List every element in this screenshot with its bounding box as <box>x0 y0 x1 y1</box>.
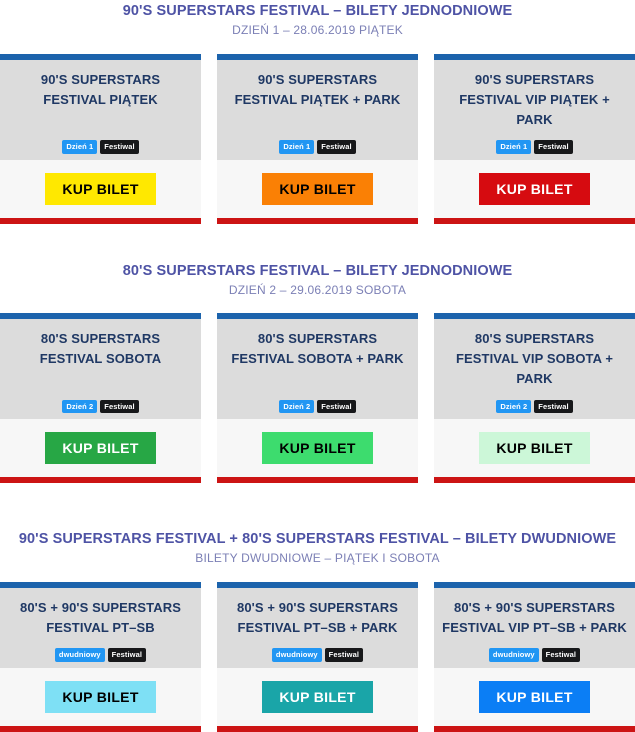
card-badges: dwudniowy Festiwal <box>489 638 580 662</box>
buy-ticket-button[interactable]: KUP BILET <box>479 173 589 205</box>
ticket-section-twoday: 90'S SUPERSTARS FESTIVAL + 80'S SUPERSTA… <box>0 530 635 732</box>
status-badge-type: Festiwal <box>100 400 138 414</box>
ticket-card[interactable]: 80'S + 90'S SUPERSTARS FESTIVAL VIP PT–S… <box>434 582 635 732</box>
card-body: KUP BILET <box>434 668 635 726</box>
card-bottom-accent-bar <box>217 477 418 483</box>
card-header: 80'S SUPERSTARS FESTIVAL SOBOTA + PARK D… <box>217 319 418 419</box>
status-badge-day: dwudniowy <box>489 648 539 662</box>
card-header: 90'S SUPERSTARS FESTIVAL PIĄTEK + PARK D… <box>217 60 418 160</box>
section-subheading: DZIEŃ 2 – 29.06.2019 SOBOTA <box>0 283 635 297</box>
status-badge-type: Festiwal <box>542 648 580 662</box>
card-body: KUP BILET <box>217 160 418 218</box>
ticket-card[interactable]: 80'S + 90'S SUPERSTARS FESTIVAL PT–SB + … <box>217 582 418 732</box>
card-bottom-accent-bar <box>434 218 635 224</box>
card-header: 80'S SUPERSTARS FESTIVAL SOBOTA Dzień 2 … <box>0 319 201 419</box>
card-bottom-accent-bar <box>0 477 201 483</box>
card-grid: 80'S + 90'S SUPERSTARS FESTIVAL PT–SB dw… <box>0 582 635 732</box>
ticket-card[interactable]: 80'S SUPERSTARS FESTIVAL SOBOTA Dzień 2 … <box>0 313 201 483</box>
section-heading: 90'S SUPERSTARS FESTIVAL – BILETY JEDNOD… <box>0 0 635 20</box>
card-title: 90'S SUPERSTARS FESTIVAL PIĄTEK <box>8 70 193 110</box>
card-title: 90'S SUPERSTARS FESTIVAL VIP PIĄTEK + PA… <box>442 70 627 130</box>
card-badges: dwudniowy Festiwal <box>272 638 363 662</box>
status-badge-type: Festiwal <box>108 648 146 662</box>
card-header: 80'S + 90'S SUPERSTARS FESTIVAL VIP PT–S… <box>434 588 635 668</box>
card-header: 90'S SUPERSTARS FESTIVAL VIP PIĄTEK + PA… <box>434 60 635 160</box>
buy-ticket-button[interactable]: KUP BILET <box>45 173 155 205</box>
card-body: KUP BILET <box>0 668 201 726</box>
card-bottom-accent-bar <box>217 218 418 224</box>
card-body: KUP BILET <box>217 419 418 477</box>
card-badges: Dzień 1 Festiwal <box>496 130 572 154</box>
card-body: KUP BILET <box>434 419 635 477</box>
card-header: 80'S + 90'S SUPERSTARS FESTIVAL PT–SB dw… <box>0 588 201 668</box>
card-badges: dwudniowy Festiwal <box>55 638 146 662</box>
card-bottom-accent-bar <box>0 726 201 732</box>
section-subheading: DZIEŃ 1 – 28.06.2019 PIĄTEK <box>0 23 635 37</box>
card-body: KUP BILET <box>217 668 418 726</box>
ticket-card[interactable]: 90'S SUPERSTARS FESTIVAL VIP PIĄTEK + PA… <box>434 54 635 224</box>
card-title: 80'S + 90'S SUPERSTARS FESTIVAL PT–SB <box>8 598 193 638</box>
status-badge-day: dwudniowy <box>272 648 322 662</box>
section-subheading: BILETY DWUDNIOWE – PIĄTEK I SOBOTA <box>0 551 635 565</box>
ticket-section-day2: 80'S SUPERSTARS FESTIVAL – BILETY JEDNOD… <box>0 262 635 484</box>
buy-ticket-button[interactable]: KUP BILET <box>262 432 372 464</box>
buy-ticket-button[interactable]: KUP BILET <box>262 173 372 205</box>
card-title: 80'S SUPERSTARS FESTIVAL SOBOTA + PARK <box>225 329 410 369</box>
card-badges: Dzień 2 Festiwal <box>62 390 138 414</box>
status-badge-day: Dzień 1 <box>279 140 314 154</box>
buy-ticket-button[interactable]: KUP BILET <box>45 432 155 464</box>
status-badge-day: Dzień 2 <box>62 400 97 414</box>
section-heading: 90'S SUPERSTARS FESTIVAL + 80'S SUPERSTA… <box>0 530 635 548</box>
status-badge-type: Festiwal <box>534 140 572 154</box>
card-header: 80'S + 90'S SUPERSTARS FESTIVAL PT–SB + … <box>217 588 418 668</box>
status-badge-day: dwudniowy <box>55 648 105 662</box>
ticket-card[interactable]: 90'S SUPERSTARS FESTIVAL PIĄTEK Dzień 1 … <box>0 54 201 224</box>
card-bottom-accent-bar <box>434 477 635 483</box>
card-bottom-accent-bar <box>0 218 201 224</box>
card-title: 80'S + 90'S SUPERSTARS FESTIVAL VIP PT–S… <box>442 598 627 638</box>
status-badge-type: Festiwal <box>317 400 355 414</box>
status-badge-day: Dzień 2 <box>279 400 314 414</box>
buy-ticket-button[interactable]: KUP BILET <box>479 432 589 464</box>
card-body: KUP BILET <box>0 160 201 218</box>
card-title: 90'S SUPERSTARS FESTIVAL PIĄTEK + PARK <box>225 70 410 110</box>
status-badge-type: Festiwal <box>534 400 572 414</box>
card-bottom-accent-bar <box>434 726 635 732</box>
card-badges: Dzień 2 Festiwal <box>496 390 572 414</box>
status-badge-type: Festiwal <box>317 140 355 154</box>
status-badge-type: Festiwal <box>100 140 138 154</box>
card-bottom-accent-bar <box>217 726 418 732</box>
section-heading: 80'S SUPERSTARS FESTIVAL – BILETY JEDNOD… <box>0 262 635 280</box>
card-grid: 80'S SUPERSTARS FESTIVAL SOBOTA Dzień 2 … <box>0 313 635 483</box>
card-header: 80'S SUPERSTARS FESTIVAL VIP SOBOTA + PA… <box>434 319 635 419</box>
ticket-card[interactable]: 90'S SUPERSTARS FESTIVAL PIĄTEK + PARK D… <box>217 54 418 224</box>
ticket-card[interactable]: 80'S SUPERSTARS FESTIVAL SOBOTA + PARK D… <box>217 313 418 483</box>
status-badge-day: Dzień 1 <box>496 140 531 154</box>
card-title: 80'S SUPERSTARS FESTIVAL SOBOTA <box>8 329 193 369</box>
status-badge-day: Dzień 1 <box>62 140 97 154</box>
ticket-card[interactable]: 80'S + 90'S SUPERSTARS FESTIVAL PT–SB dw… <box>0 582 201 732</box>
card-grid: 90'S SUPERSTARS FESTIVAL PIĄTEK Dzień 1 … <box>0 54 635 224</box>
ticket-listing-page: 90'S SUPERSTARS FESTIVAL – BILETY JEDNOD… <box>0 0 635 732</box>
status-badge-day: Dzień 2 <box>496 400 531 414</box>
ticket-section-day1: 90'S SUPERSTARS FESTIVAL – BILETY JEDNOD… <box>0 0 635 224</box>
buy-ticket-button[interactable]: KUP BILET <box>479 681 589 713</box>
ticket-card[interactable]: 80'S SUPERSTARS FESTIVAL VIP SOBOTA + PA… <box>434 313 635 483</box>
card-body: KUP BILET <box>0 419 201 477</box>
card-header: 90'S SUPERSTARS FESTIVAL PIĄTEK Dzień 1 … <box>0 60 201 160</box>
buy-ticket-button[interactable]: KUP BILET <box>262 681 372 713</box>
status-badge-type: Festiwal <box>325 648 363 662</box>
buy-ticket-button[interactable]: KUP BILET <box>45 681 155 713</box>
card-title: 80'S + 90'S SUPERSTARS FESTIVAL PT–SB + … <box>225 598 410 638</box>
card-title: 80'S SUPERSTARS FESTIVAL VIP SOBOTA + PA… <box>442 329 627 389</box>
card-body: KUP BILET <box>434 160 635 218</box>
card-badges: Dzień 2 Festiwal <box>279 390 355 414</box>
card-badges: Dzień 1 Festiwal <box>279 130 355 154</box>
card-badges: Dzień 1 Festiwal <box>62 130 138 154</box>
